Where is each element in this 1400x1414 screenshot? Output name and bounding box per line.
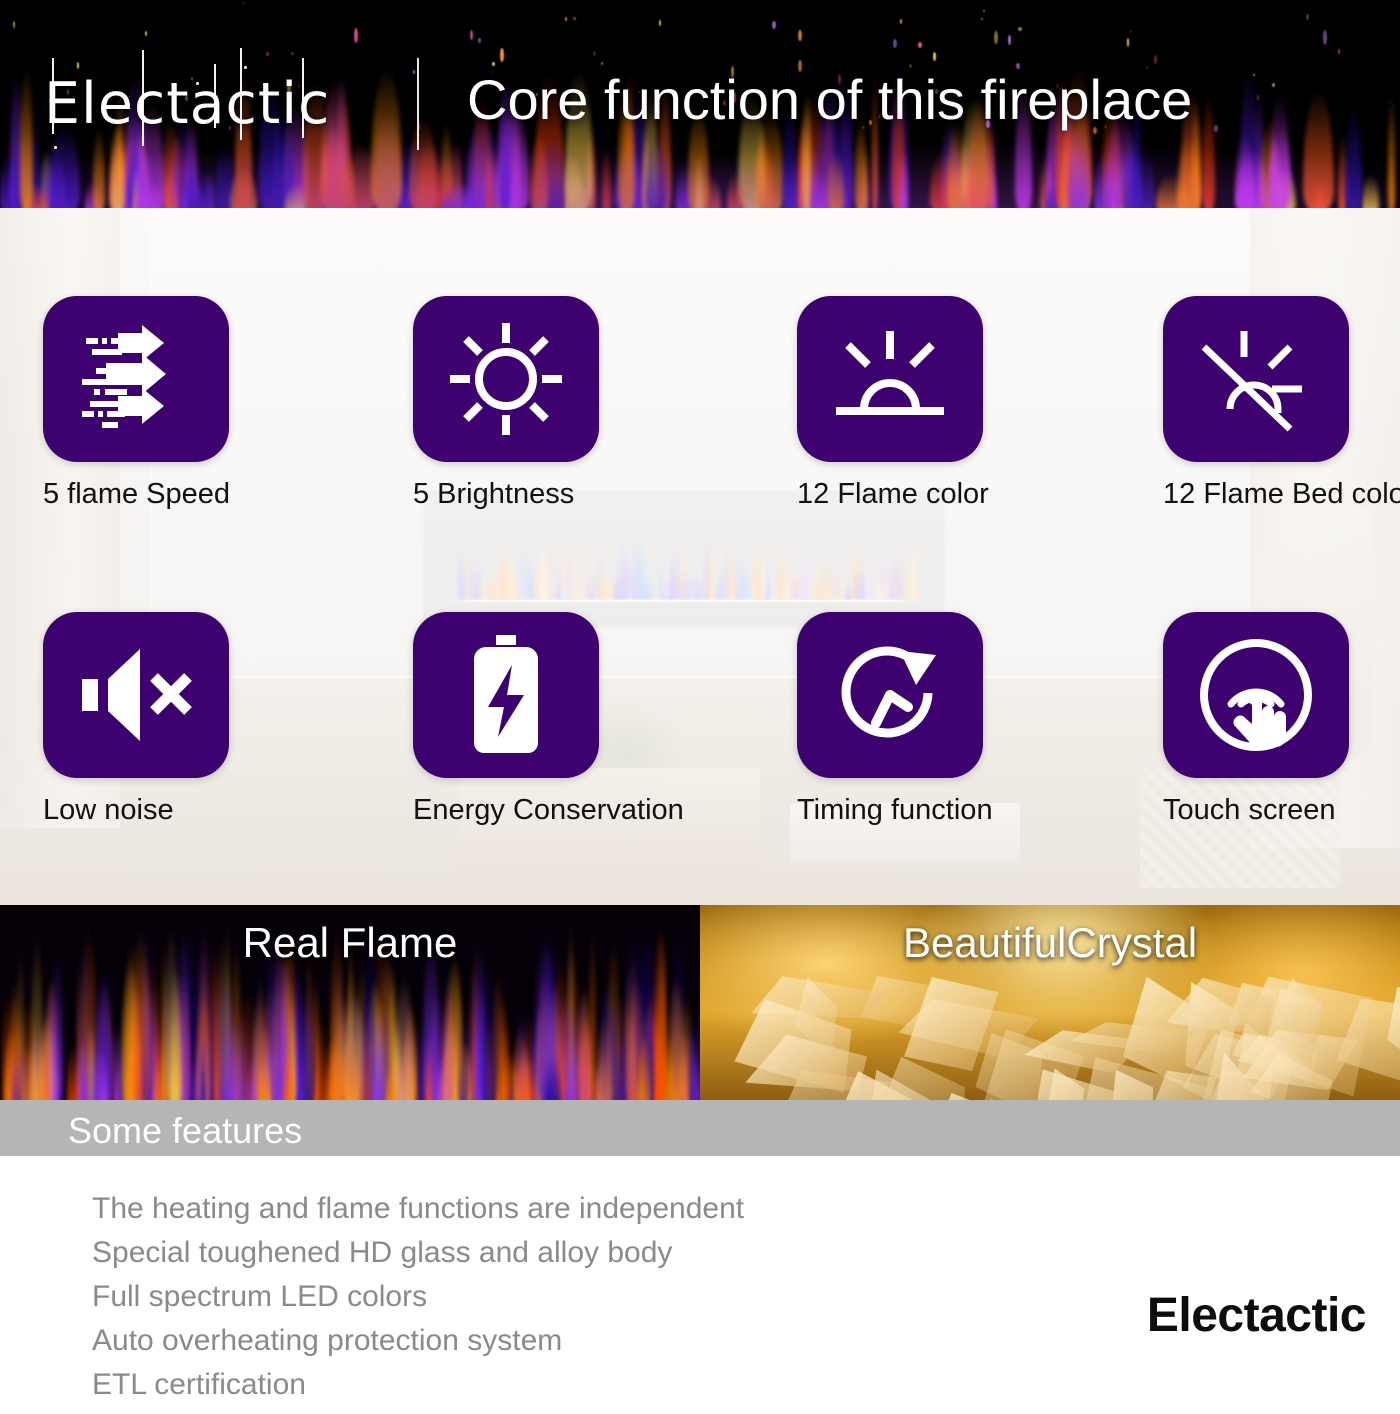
brand-logo: Electactic bbox=[44, 66, 330, 142]
feature-label: 12 Flame Bed color bbox=[1163, 479, 1400, 511]
showcase-beautiful-crystal: BeautifulCrystal bbox=[700, 905, 1400, 1100]
footer-brand-logo: Electactic bbox=[1147, 1288, 1366, 1343]
feature-icon-tile bbox=[797, 296, 983, 462]
feature-item-energy-conservation[interactable]: Energy Conservation bbox=[413, 612, 763, 827]
feature-icon-tile bbox=[43, 612, 229, 778]
feature-icon-tile bbox=[413, 612, 599, 778]
feature-icon-tile bbox=[1163, 612, 1349, 778]
header-title: Core function of this fireplace bbox=[467, 72, 1192, 128]
mute-speaker-icon bbox=[74, 641, 198, 749]
infographic-page: Electactic Core function of this firepla… bbox=[0, 0, 1400, 1400]
brand-logo-text: Electactic bbox=[44, 76, 330, 133]
feature-label: 5 flame Speed bbox=[43, 479, 229, 511]
header-divider bbox=[417, 58, 419, 150]
feature-icon-tile bbox=[797, 612, 983, 778]
feature-item-brightness[interactable]: 5 Brightness bbox=[413, 296, 763, 511]
list-item: The heating and flame functions are inde… bbox=[92, 1194, 992, 1224]
feature-item-touch-screen[interactable]: Touch screen bbox=[1163, 612, 1400, 827]
feature-label: Touch screen bbox=[1163, 795, 1363, 827]
touch-hand-icon bbox=[1195, 634, 1317, 756]
feature-item-low-noise[interactable]: Low noise bbox=[43, 612, 393, 827]
feature-icon-tile bbox=[413, 296, 599, 462]
feature-label: Timing function bbox=[797, 795, 1007, 827]
header-banner: Electactic Core function of this firepla… bbox=[0, 0, 1400, 208]
showcase-left-label: Real Flame bbox=[0, 919, 700, 967]
feature-item-flame-speed[interactable]: 5 flame Speed bbox=[43, 296, 393, 511]
feature-icon-tile bbox=[43, 296, 229, 462]
feature-label: Low noise bbox=[43, 795, 229, 827]
brightness-sun-icon bbox=[446, 319, 566, 439]
list-item: Full spectrum LED colors bbox=[92, 1282, 992, 1312]
showcase-right-label: BeautifulCrystal bbox=[700, 919, 1400, 967]
showcase-strip: Real Flame BeautifulCrystal bbox=[0, 905, 1400, 1100]
feature-label: Energy Conservation bbox=[413, 795, 663, 827]
feature-item-flame-bed-color[interactable]: 12 Flame Bed color bbox=[1163, 296, 1400, 511]
sunrise-slashed-icon bbox=[1194, 321, 1318, 437]
timer-arrow-icon bbox=[832, 637, 948, 753]
feature-item-timing-function[interactable]: Timing function bbox=[797, 612, 1147, 827]
some-features-bar: Some features bbox=[0, 1100, 1400, 1156]
battery-bolt-icon bbox=[456, 633, 556, 757]
list-item: Auto overheating protection system bbox=[92, 1326, 992, 1356]
features-section: 5 flame Speed bbox=[0, 208, 1400, 905]
showcase-real-flame: Real Flame bbox=[0, 905, 700, 1100]
feature-item-flame-color[interactable]: 12 Flame color bbox=[797, 296, 1147, 511]
some-features-list: The heating and flame functions are inde… bbox=[52, 1194, 992, 1414]
feature-grid: 5 flame Speed bbox=[0, 208, 1400, 905]
feature-label: 5 Brightness bbox=[413, 479, 599, 511]
list-item: ETL certification bbox=[92, 1370, 992, 1400]
some-features-heading: Some features bbox=[68, 1110, 302, 1152]
sunrise-icon bbox=[828, 323, 952, 435]
flame-speed-icon bbox=[72, 323, 200, 435]
feature-label: 12 Flame color bbox=[797, 479, 997, 511]
feature-icon-tile bbox=[1163, 296, 1349, 462]
list-item: Special toughened HD glass and alloy bod… bbox=[92, 1238, 992, 1268]
